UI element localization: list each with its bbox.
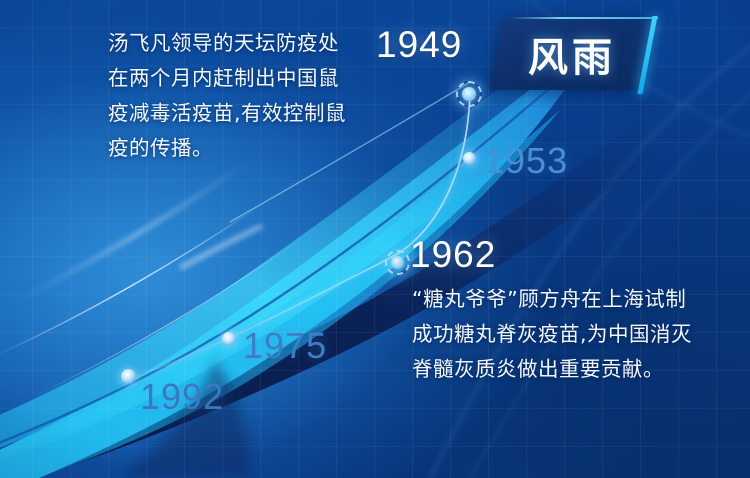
timeline-marker-1992 (121, 369, 136, 384)
timeline-marker-1975 (222, 332, 236, 346)
entry-year-1962: 1962 (410, 234, 496, 276)
entry-body-1962: “糖丸爷爷”顾方舟在上海试制 成功糖丸脊灰疫苗,为中国消灭 脊髓灰质炎做出重要贡… (412, 282, 728, 387)
timeline-marker-1962 (385, 250, 410, 275)
entry-year-1953: 1953 (484, 140, 568, 182)
entry-year-1992: 1992 (140, 376, 224, 418)
entry-year-1949: 1949 (376, 24, 462, 66)
infographic-canvas: 风雨 汤飞凡领导的天坛防疫处 在两个月内赶制出中国鼠 疫减毒活疫苗,有效控制鼠 … (0, 0, 750, 478)
entry-year-1975: 1975 (243, 325, 327, 367)
timeline-marker-1949 (456, 81, 482, 107)
page-title: 风雨 (496, 18, 648, 90)
timeline-marker-1953 (463, 152, 476, 165)
entry-body-1949: 汤飞凡领导的天坛防疫处 在两个月内赶制出中国鼠 疫减毒活疫苗,有效控制鼠 疫的传… (108, 26, 388, 166)
